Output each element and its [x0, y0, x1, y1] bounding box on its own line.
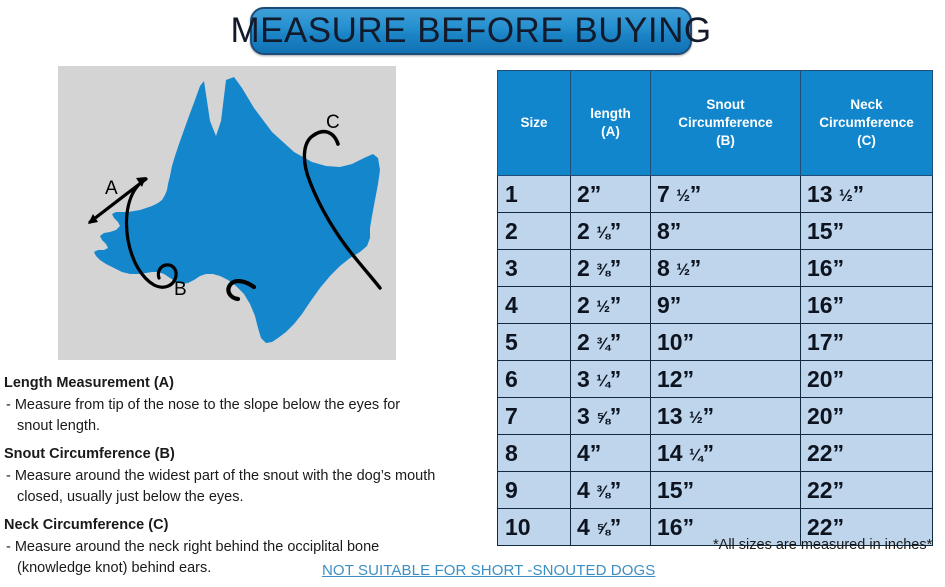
cell-length: 3 ⅝”: [571, 398, 651, 435]
cell-value: 14 ¼”: [657, 440, 714, 466]
cell-size: 3: [498, 250, 571, 287]
cell-size: 6: [498, 361, 571, 398]
fraction: ½: [689, 408, 703, 427]
label-b: B: [174, 279, 187, 300]
size-chart-table: Size length (A) Snout Circumference (B) …: [497, 70, 933, 546]
cell-neck-circumference: 22”: [801, 435, 933, 472]
cell-size: 1: [498, 176, 571, 213]
cell-size: 10: [498, 509, 571, 546]
cell-value: 12”: [657, 366, 694, 392]
cell-length: 2 ½”: [571, 287, 651, 324]
cell-value: 8”: [657, 218, 681, 244]
instruction-snout-line2: closed, usually just below the eyes.: [6, 487, 484, 508]
table-row: 63 ¼”12”20”: [498, 361, 933, 398]
header-length-line2: (A): [601, 124, 620, 139]
fraction: ¼: [689, 445, 703, 464]
column-header-neck-circumference: Neck Circumference (C): [801, 71, 933, 176]
title-banner: MEASURE BEFORE BUYING: [250, 7, 692, 55]
cell-snout-circumference: 9”: [651, 287, 801, 324]
cell-length: 4 ⅝”: [571, 509, 651, 546]
cell-value: 16”: [807, 255, 844, 281]
units-note: *All sizes are measured in inches*: [713, 537, 932, 553]
cell-value: 2”: [577, 181, 601, 207]
cell-value: 13 ½”: [657, 403, 714, 429]
instruction-length-line1: - Measure from tip of the nose to the sl…: [6, 397, 400, 413]
table-row: 32 ⅜”8 ½”16”: [498, 250, 933, 287]
cell-value: 10”: [657, 329, 694, 355]
cell-value: 4”: [577, 440, 601, 466]
fraction: ¼: [596, 371, 610, 390]
cell-value: 16”: [657, 514, 694, 540]
cell-size: 8: [498, 435, 571, 472]
cell-value: 20”: [807, 403, 844, 429]
cell-value: 9”: [657, 292, 681, 318]
cell-value: 4 ⅝”: [577, 514, 621, 540]
cell-snout-circumference: 8”: [651, 213, 801, 250]
label-a: A: [105, 178, 118, 199]
cell-size: 5: [498, 324, 571, 361]
cell-length: 4”: [571, 435, 651, 472]
cell-snout-circumference: 13 ½”: [651, 398, 801, 435]
cell-size: 7: [498, 398, 571, 435]
cell-length: 2”: [571, 176, 651, 213]
header-neck-line2: Circumference: [819, 115, 914, 130]
cell-size: 4: [498, 287, 571, 324]
cell-neck-circumference: 22”: [801, 472, 933, 509]
cell-value: 3 ¼”: [577, 366, 621, 392]
header-neck-line3: (C): [857, 133, 876, 148]
cell-neck-circumference: 13 ½”: [801, 176, 933, 213]
fraction: ½: [839, 186, 853, 205]
fraction: ⅛: [596, 223, 610, 242]
cell-length: 2 ⅛”: [571, 213, 651, 250]
cell-value: 22”: [807, 514, 844, 540]
table-header-row: Size length (A) Snout Circumference (B) …: [498, 71, 933, 176]
table-row: 73 ⅝”13 ½”20”: [498, 398, 933, 435]
cell-neck-circumference: 20”: [801, 398, 933, 435]
instruction-length: Length Measurement (A) - Measure from ti…: [4, 373, 484, 436]
header-snout-line1: Snout: [706, 97, 744, 112]
cell-length: 3 ¼”: [571, 361, 651, 398]
table-row: 94 ⅜”15”22”: [498, 472, 933, 509]
instruction-neck-title: Neck Circumference (C): [4, 515, 484, 536]
cell-neck-circumference: 15”: [801, 213, 933, 250]
fraction: ¾: [596, 334, 610, 353]
cell-value: 3 ⅝”: [577, 403, 621, 429]
instruction-length-body: - Measure from tip of the nose to the sl…: [4, 395, 484, 436]
header-neck-line1: Neck: [850, 97, 882, 112]
label-c: C: [326, 112, 340, 133]
cell-value: 20”: [807, 366, 844, 392]
cell-value: 17”: [807, 329, 844, 355]
cell-length: 4 ⅜”: [571, 472, 651, 509]
measurement-instructions: Length Measurement (A) - Measure from ti…: [4, 373, 484, 587]
cell-length: 2 ¾”: [571, 324, 651, 361]
dog-head-diagram: A B C: [58, 66, 396, 360]
cell-value: 22”: [807, 440, 844, 466]
cell-snout-circumference: 10”: [651, 324, 801, 361]
cell-neck-circumference: 17”: [801, 324, 933, 361]
column-header-snout-circumference: Snout Circumference (B): [651, 71, 801, 176]
instruction-length-title: Length Measurement (A): [4, 373, 484, 394]
cell-neck-circumference: 20”: [801, 361, 933, 398]
header-snout-line2: Circumference: [678, 115, 773, 130]
fraction: ⅜: [596, 260, 610, 279]
fraction: ⅝: [596, 408, 610, 427]
not-suitable-warning: NOT SUITABLE FOR SHORT -SNOUTED DOGS: [322, 562, 655, 579]
instruction-neck-line1: - Measure around the neck right behind t…: [6, 539, 379, 555]
cell-value: 2 ¾”: [577, 329, 621, 355]
cell-value: 15”: [657, 477, 694, 503]
instruction-snout-body: - Measure around the widest part of the …: [4, 466, 484, 507]
cell-neck-circumference: 16”: [801, 250, 933, 287]
instruction-snout-line1: - Measure around the widest part of the …: [6, 468, 435, 484]
column-header-length: length (A): [571, 71, 651, 176]
header-length-line1: length: [590, 106, 631, 121]
cell-snout-circumference: 12”: [651, 361, 801, 398]
cell-length: 2 ⅜”: [571, 250, 651, 287]
table-row: 12”7 ½”13 ½”: [498, 176, 933, 213]
cell-size: 2: [498, 213, 571, 250]
cell-snout-circumference: 14 ¼”: [651, 435, 801, 472]
table-row: 84”14 ¼”22”: [498, 435, 933, 472]
cell-value: 2 ½”: [577, 292, 621, 318]
fraction: ⅝: [596, 519, 610, 538]
neck-loop-underside: [314, 132, 338, 144]
cell-value: 7 ½”: [657, 181, 701, 207]
instruction-snout: Snout Circumference (B) - Measure around…: [4, 444, 484, 507]
cell-snout-circumference: 8 ½”: [651, 250, 801, 287]
cell-value: 22”: [807, 477, 844, 503]
table-row: 52 ¾”10”17”: [498, 324, 933, 361]
dog-illustration-panel: A B C: [58, 66, 396, 360]
header-size-line1: Size: [520, 115, 547, 130]
column-header-size: Size: [498, 71, 571, 176]
cell-snout-circumference: 7 ½”: [651, 176, 801, 213]
fraction: ½: [596, 297, 610, 316]
fraction: ½: [676, 260, 690, 279]
header-snout-line3: (B): [716, 133, 735, 148]
table-row: 42 ½”9”16”: [498, 287, 933, 324]
cell-snout-circumference: 15”: [651, 472, 801, 509]
cell-value: 2 ⅛”: [577, 218, 621, 244]
fraction: ½: [676, 186, 690, 205]
cell-value: 4 ⅜”: [577, 477, 621, 503]
instruction-length-line2: snout length.: [6, 416, 484, 437]
cell-value: 15”: [807, 218, 844, 244]
instruction-snout-title: Snout Circumference (B): [4, 444, 484, 465]
table-row: 22 ⅛”8”15”: [498, 213, 933, 250]
size-chart-table-body: 12”7 ½”13 ½”22 ⅛”8”15”32 ⅜”8 ½”16”42 ½”9…: [498, 176, 933, 546]
fraction: ⅜: [596, 482, 610, 501]
cell-value: 2 ⅜”: [577, 255, 621, 281]
page-title: MEASURE BEFORE BUYING: [230, 11, 711, 51]
cell-size: 9: [498, 472, 571, 509]
cell-neck-circumference: 16”: [801, 287, 933, 324]
cell-value: 16”: [807, 292, 844, 318]
cell-value: 8 ½”: [657, 255, 701, 281]
cell-value: 13 ½”: [807, 181, 864, 207]
